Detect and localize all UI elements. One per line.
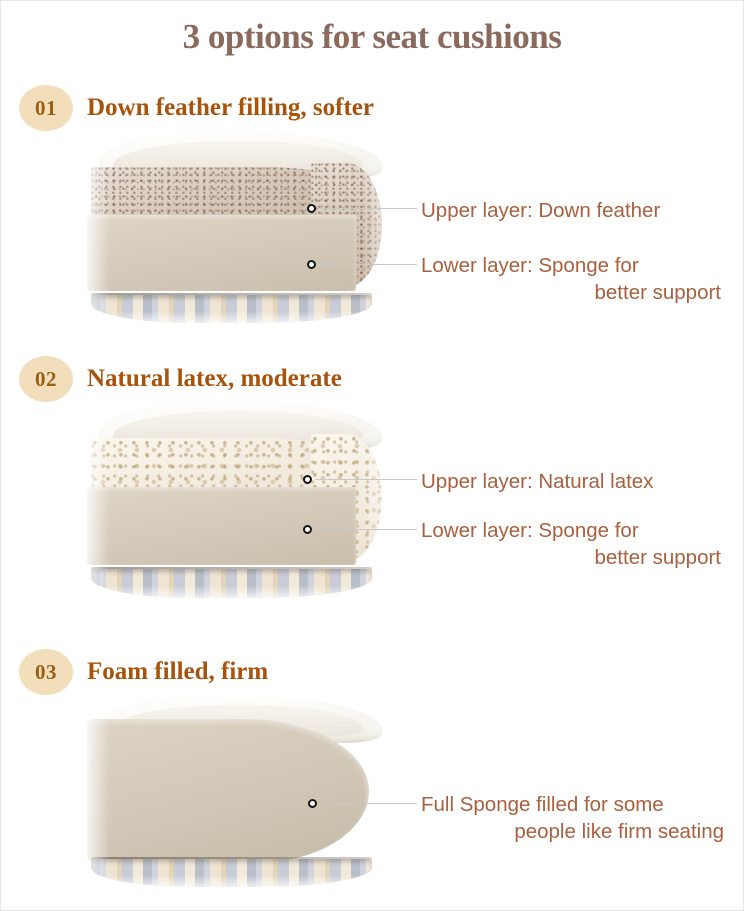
annotation-upper-02-line1: Upper layer: Natural latex xyxy=(421,470,653,493)
section-heading-03: 03 Foam filled, firm xyxy=(19,649,268,695)
cushion-photo-natural-latex xyxy=(81,397,401,602)
section-heading-01: 01 Down feather filling, softer xyxy=(19,85,374,131)
cushion-photo-down-feather xyxy=(81,127,401,327)
striped-fabric-base xyxy=(91,859,373,887)
callout-dot-upper-01 xyxy=(307,204,316,213)
page-title: 3 options for seat cushions xyxy=(1,17,743,57)
annotation-upper-01-line1: Upper layer: Down feather xyxy=(421,199,660,222)
leader-line-foam-03 xyxy=(320,803,417,804)
annotation-foam-03-line1: Full Sponge filled for some xyxy=(421,793,664,816)
leader-line-lower-02 xyxy=(315,529,417,530)
leader-line-lower-01 xyxy=(319,264,417,265)
annotation-lower-01-line2: better support xyxy=(421,279,721,306)
lower-layer-sponge xyxy=(87,215,356,291)
striped-fabric-base xyxy=(91,295,373,323)
section-title-03: Foam filled, firm xyxy=(87,658,268,686)
striped-fabric-base xyxy=(91,569,373,598)
annotation-upper-02: Upper layer: Natural latex xyxy=(421,468,653,495)
section-title-02: Natural latex, moderate xyxy=(87,365,342,393)
leader-line-upper-01 xyxy=(319,208,417,209)
lower-layer-sponge xyxy=(87,487,356,565)
callout-dot-foam-03 xyxy=(308,799,317,808)
cushion-photo-full-foam xyxy=(81,691,401,891)
annotation-lower-01: Lower layer: Sponge for better support xyxy=(421,252,721,306)
infographic-page: 3 options for seat cushions 01 Down feat… xyxy=(1,1,743,910)
full-sponge-block xyxy=(87,719,369,863)
section-heading-02: 02 Natural latex, moderate xyxy=(19,356,342,402)
annotation-lower-02-line2: better support xyxy=(421,544,721,571)
section-title-01: Down feather filling, softer xyxy=(87,94,374,122)
annotation-upper-01: Upper layer: Down feather xyxy=(421,197,660,224)
badge-02: 02 xyxy=(19,356,73,402)
annotation-foam-03-line2: people like firm seating xyxy=(421,818,724,845)
callout-dot-upper-02 xyxy=(303,475,312,484)
badge-03: 03 xyxy=(19,649,73,695)
leader-line-upper-02 xyxy=(315,479,417,480)
callout-dot-lower-01 xyxy=(307,260,316,269)
callout-dot-lower-02 xyxy=(303,525,312,534)
annotation-lower-02-line1: Lower layer: Sponge for xyxy=(421,519,639,542)
badge-01: 01 xyxy=(19,85,73,131)
annotation-foam-03: Full Sponge filled for some people like … xyxy=(421,791,724,845)
annotation-lower-01-line1: Lower layer: Sponge for xyxy=(421,254,639,277)
annotation-lower-02: Lower layer: Sponge for better support xyxy=(421,517,721,571)
